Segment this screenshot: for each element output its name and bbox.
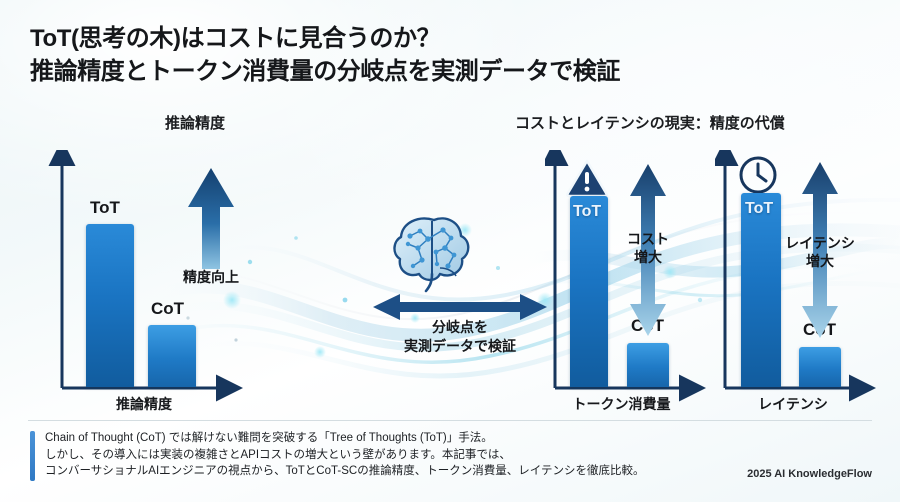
title-line-2: 推論精度とトークン消費量の分岐点を実測データで検証 [30, 55, 730, 88]
brain-network-icon [388, 212, 480, 294]
annotation-accuracy-gain: 精度向上 [160, 268, 262, 286]
section-header-accuracy: 推論精度 [165, 112, 225, 133]
axis-caption-tokens: トークン消費量 [549, 394, 694, 414]
chart-latency: ToT CoT レイテンシ 増大 レイテンシ [715, 150, 880, 405]
bar-label-tot-latency: ToT [745, 200, 773, 218]
bar-cot-tokens [627, 343, 669, 387]
annotation-cost-line-2: 増大 [608, 248, 688, 266]
chart-tokens: ToT CoT コスト 増大 トークン消費量 [545, 150, 710, 405]
bar-tot-tokens [570, 196, 608, 387]
annotation-accuracy-gain-text: 精度向上 [183, 269, 239, 285]
title-line-1: ToT(思考の木)はコストに見合うのか？ [30, 22, 730, 55]
footer-accent-bar [30, 431, 35, 481]
bar-label-tot-accuracy: ToT [90, 198, 120, 218]
chart-accuracy: ToT CoT 精度向上 推論精度 [40, 150, 290, 405]
bar-tot-latency [741, 193, 781, 387]
footer-line-1: Chain of Thought (CoT) では解けない難問を突破する「Tre… [45, 430, 745, 447]
axis-caption-latency: レイテンシ [723, 394, 863, 414]
infographic-slide: ToT(思考の木)はコストに見合うのか？ 推論精度とトークン消費量の分岐点を実測… [0, 0, 900, 502]
footer-line-3: コンバーサショナルAIエンジニアの視点から、ToTとCoT-SCの推論精度、トー… [45, 463, 745, 480]
branch-point-line-2: 実測データで検証 [372, 337, 548, 356]
warning-triangle-icon [565, 158, 609, 198]
branch-point-label: 分岐点を 実測データで検証 [372, 318, 548, 356]
bar-label-tot-tokens: ToT [573, 203, 601, 221]
annotation-latency-line-1: レイテンシ [767, 234, 873, 252]
annotation-latency-increase: レイテンシ 増大 [767, 234, 873, 270]
bar-cot-latency [799, 347, 841, 387]
page-title: ToT(思考の木)はコストに見合うのか？ 推論精度とトークン消費量の分岐点を実測… [30, 22, 730, 88]
bar-cot-accuracy [148, 325, 196, 387]
clock-icon [737, 154, 779, 196]
annotation-latency-line-2: 増大 [767, 252, 873, 270]
annotation-cost-line-1: コスト [608, 230, 688, 248]
axis-caption-accuracy: 推論精度 [74, 394, 214, 414]
branch-point-line-1: 分岐点を [372, 318, 548, 337]
footer-line-2: しかし、その導入には実装の複雑さとAPIコストの増大という壁があります。本記事で… [45, 447, 745, 464]
footer-description: Chain of Thought (CoT) では解けない難問を突破する「Tre… [45, 430, 745, 480]
bar-label-cot-accuracy: CoT [151, 299, 184, 319]
annotation-cost-increase: コスト 増大 [608, 230, 688, 266]
up-arrow-icon [182, 165, 240, 271]
section-header-cost-latency: コストとレイテンシの現実：精度の代償 [515, 112, 785, 133]
credit-label: 2025 AI KnowledgeFlow [747, 468, 872, 480]
footer-divider [28, 420, 872, 421]
bar-tot-accuracy [86, 224, 134, 387]
